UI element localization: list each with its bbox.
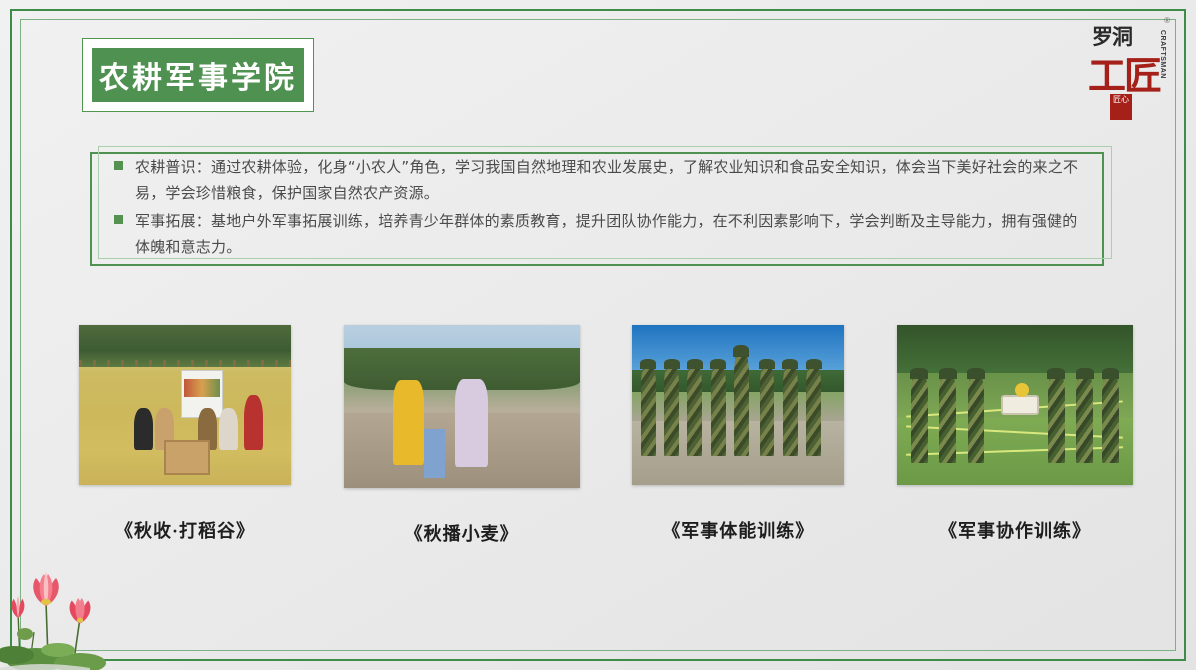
gallery-item: 《军事协作训练》 [890,325,1140,546]
photo-soldier [687,367,702,457]
description-bullet-1: 农耕普识：通过农耕体验，化身“小农人”角色，学习我国自然地理和农业发展史，了解农… [114,154,1088,206]
description-bullet-2-line-1: 军事拓展：基地户外军事拓展训练，培养青少年群体的素质教育，提升团队协作能力，在不… [135,212,910,230]
photo-drum-board [1001,395,1039,414]
photo-person [455,379,488,467]
photo-soldier [1102,376,1119,462]
photo-person [424,429,445,478]
gallery-caption: 《军事体能训练》 [662,517,814,543]
logo-brand-cn: 罗洞 [1092,28,1132,48]
photo-soldier [664,367,679,457]
wheat-sowing-photo[interactable] [344,325,580,488]
rice-harvest-photo[interactable] [79,325,291,485]
logo-brand-main: 工匠 [1088,58,1160,96]
military-teamwork-photo[interactable] [897,325,1133,485]
page-title: 农耕军事学院 [99,53,297,97]
page-title-badge-fill: 农耕军事学院 [92,48,304,102]
gallery-item: 《军事体能训练》 [613,325,863,546]
photo-soldier [783,367,798,457]
gallery-item: 《秋播小麦》 [337,325,587,546]
photo-soldier [968,376,985,462]
brand-logo: ® 罗洞 CRAFTSMAN 工匠 匠心 [1086,14,1172,122]
description-box: 农耕普识：通过农耕体验，化身“小农人”角色，学习我国自然地理和农业发展史，了解农… [90,146,1112,266]
photo-person [219,408,238,450]
photo-soldier [1048,376,1065,462]
photo-soldier [806,367,821,457]
slide-canvas: 农耕军事学院 ® 罗洞 CRAFTSMAN 工匠 匠心 农耕普识：通过农耕体验，… [0,0,1196,670]
photo-ball [1015,383,1029,397]
description-bullet-1-text: 农耕普识：通过农耕体验，化身“小农人”角色，学习我国自然地理和农业发展史，了解农… [135,154,1088,206]
photo-soldier [939,376,956,462]
photo-person [134,408,153,450]
registered-mark-icon: ® [1164,16,1170,25]
photo-fence [79,360,291,366]
military-fitness-photo[interactable] [632,325,844,485]
photo-gallery: 《秋收·打稻谷》 《秋播小麦》 [60,325,1140,546]
photo-person [244,395,263,449]
photo-person [393,380,424,465]
square-bullet-icon [114,215,123,224]
photo-soldier [641,367,656,457]
gallery-caption: 《军事协作训练》 [939,517,1091,543]
gallery-caption: 《秋播小麦》 [405,520,519,546]
description-bullet-2-text: 军事拓展：基地户外军事拓展训练，培养青少年群体的素质教育，提升团队协作能力，在不… [135,208,1088,260]
photo-soldier [760,367,775,457]
photo-soldier [1076,376,1093,462]
square-bullet-icon [114,161,123,170]
gallery-caption: 《秋收·打稻谷》 [115,517,255,543]
logo-seal-icon: 匠心 [1110,94,1132,120]
photo-wooden-crate [164,440,211,475]
photo-soldier [911,376,928,462]
photo-soldier [711,367,726,457]
description-bullet-2: 军事拓展：基地户外军事拓展训练，培养青少年群体的素质教育，提升团队协作能力，在不… [114,208,1088,260]
page-title-badge: 农耕军事学院 [82,38,314,112]
description-bullet-1-line-1: 农耕普识：通过农耕体验，化身“小农人”角色，学习我国自然地理和农业发展史，了解农… [135,158,926,176]
photo-treeline [897,325,1133,373]
photo-soldier [734,354,749,456]
gallery-item: 《秋收·打稻谷》 [60,325,310,546]
lotus-flowers-decoration [0,550,210,670]
description-content: 农耕普识：通过农耕体验，化身“小农人”角色，学习我国自然地理和农业发展史，了解农… [114,158,1088,256]
